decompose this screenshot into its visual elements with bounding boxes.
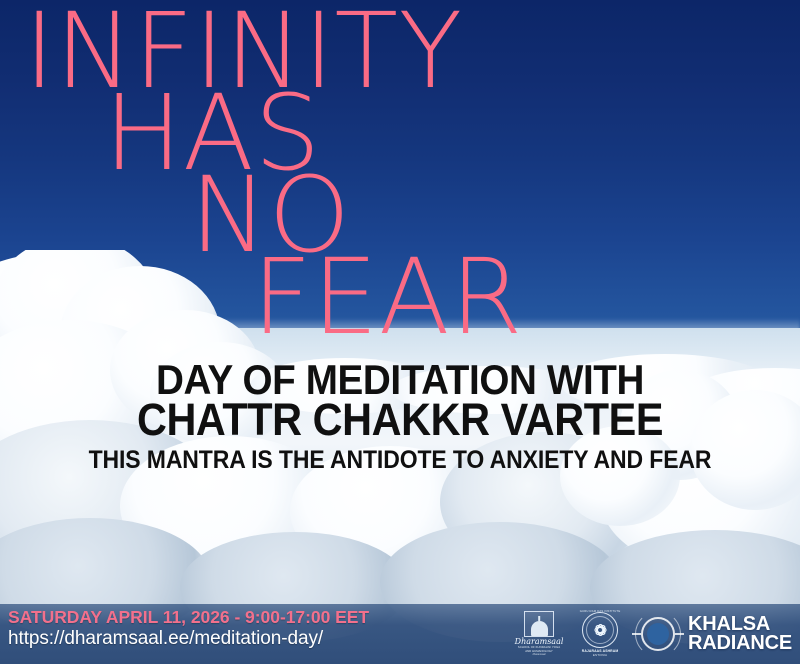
logo-ashram-country: ESTONIA <box>593 653 607 657</box>
logo-group: Dharamsaal SCHOOL OF KUNDALINI YOGA AND … <box>511 604 794 664</box>
logo-dharamsaal-tagline-3: Dharamsaal <box>533 654 546 657</box>
logo-dharamsaal: Dharamsaal SCHOOL OF KUNDALINI YOGA AND … <box>511 608 567 660</box>
lotus-core <box>597 627 603 633</box>
footer-bar: SATURDAY APRIL 11, 2026 - 9:00-17:00 EET… <box>0 604 800 664</box>
lotus-icon <box>589 619 611 641</box>
event-url[interactable]: https://dharamsaal.ee/meditation-day/ <box>8 629 369 649</box>
temple-icon <box>524 611 554 637</box>
radiance-circle-icon <box>633 611 683 657</box>
event-title-line-2: CHATTR CHAKKR VARTEE <box>32 398 768 442</box>
event-poster: INFINITY HAS NO FEAR DAY OF MEDITATION W… <box>0 0 800 664</box>
logo-khalsa-wordmark: KHALSA RADIANCE <box>688 615 792 653</box>
event-subtitle: THIS MANTRA IS THE ANTIDOTE TO ANXIETY A… <box>32 448 768 473</box>
event-date-time: SATURDAY APRIL 11, 2026 - 9:00-17:00 EET <box>8 608 369 627</box>
seal-ring-icon <box>582 612 618 648</box>
title-block: DAY OF MEDITATION WITH CHATTR CHAKKR VAR… <box>0 359 800 473</box>
dome-shape <box>531 621 548 636</box>
logo-khalsa-radiance: KHALSA RADIANCE <box>633 608 794 660</box>
footer-text-group: SATURDAY APRIL 11, 2026 - 9:00-17:00 EET… <box>8 608 369 649</box>
logo-rajaraas-ashram: GURU RAM DAS INSTITUTE RAJARAAS ASH <box>573 608 627 660</box>
logo-khalsa-line-2: RADIANCE <box>688 634 792 653</box>
